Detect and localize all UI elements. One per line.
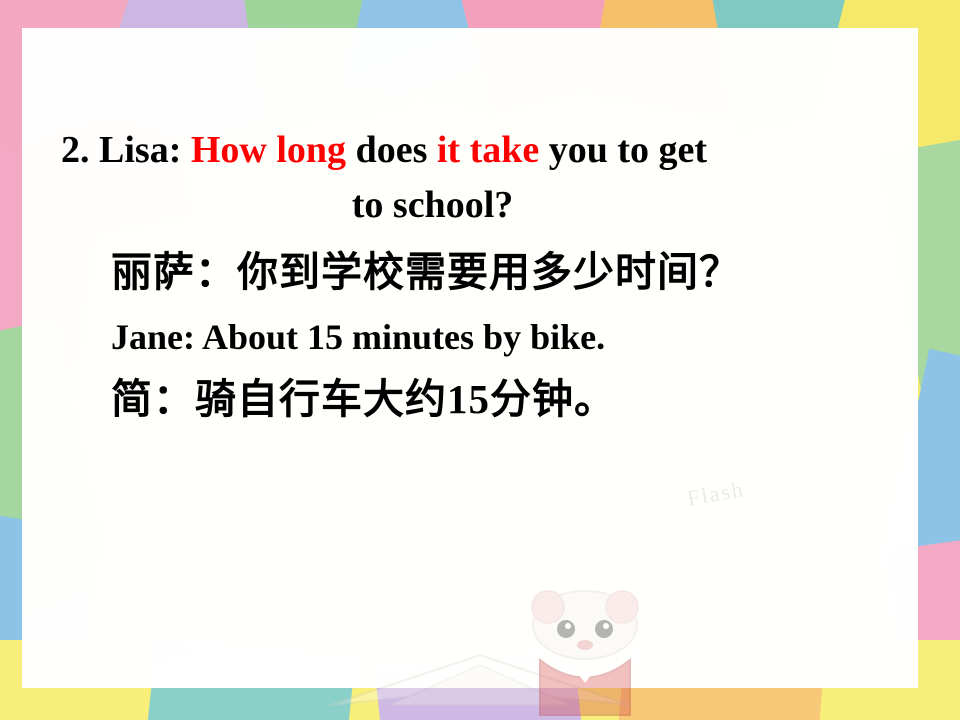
dialogue-line-4-chinese: 简：骑自行车大约15分钟。: [111, 377, 910, 421]
speaker-lisa-label: Lisa:: [99, 129, 181, 171]
item-number: 2.: [61, 129, 90, 171]
dialogue-line-3-english: Jane: About 15 minutes by bike.: [111, 318, 910, 357]
spacer: [181, 129, 191, 171]
highlight-how-long: How long: [191, 129, 346, 171]
cartoon-character-icon: [470, 585, 700, 720]
slide-canvas: Flash 2. Lisa: How long does it take you…: [0, 0, 960, 720]
speaker-lisa: [90, 129, 100, 171]
dialogue-text-block: 2. Lisa: How long does it take you to ge…: [55, 130, 910, 421]
dialogue-line-1-english: 2. Lisa: How long does it take you to ge…: [61, 130, 910, 171]
highlight-it-take: it take: [437, 129, 539, 171]
text-does: does: [346, 129, 437, 171]
text-you-to-get: you to get: [539, 129, 707, 171]
dialogue-line-2-chinese: 丽萨：你到学校需要用多少时间？: [111, 250, 910, 294]
dialogue-line-1-continuation: to school?: [0, 185, 910, 226]
